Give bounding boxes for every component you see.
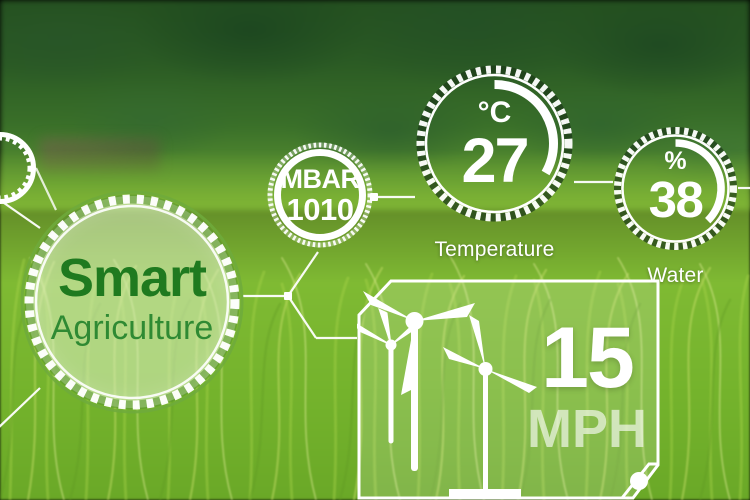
- gauge-unit: MBAR: [281, 164, 360, 194]
- brand-subtitle: Agriculture: [16, 310, 248, 346]
- gauge-label: Temperature: [415, 238, 574, 262]
- brand-badge[interactable]: Smart Agriculture: [16, 186, 248, 418]
- wind-panel-indicator-dot: [630, 472, 648, 490]
- gauge-unit: °C: [415, 98, 574, 128]
- brand-title: Smart: [16, 250, 248, 306]
- gauge-water[interactable]: % 38 Water: [613, 126, 738, 251]
- gauge-value: 38: [613, 172, 738, 228]
- wind-speed-unit: MPH: [517, 401, 657, 457]
- gauge-value: 27: [415, 126, 574, 196]
- gauge-readout: MBAR 1010: [266, 141, 374, 249]
- gauge-pressure[interactable]: MBAR 1010: [266, 141, 374, 249]
- smart-agriculture-dashboard: Smart Agriculture MBAR 1010 °C 27 Temper…: [0, 0, 750, 500]
- connector-node: [284, 292, 292, 300]
- gauge-temperature[interactable]: °C 27 Temperature: [415, 64, 574, 223]
- wind-panel[interactable]: 15 MPH: [357, 279, 660, 500]
- wind-speed-value: 15: [527, 314, 647, 402]
- gauge-value: 1010: [287, 194, 354, 226]
